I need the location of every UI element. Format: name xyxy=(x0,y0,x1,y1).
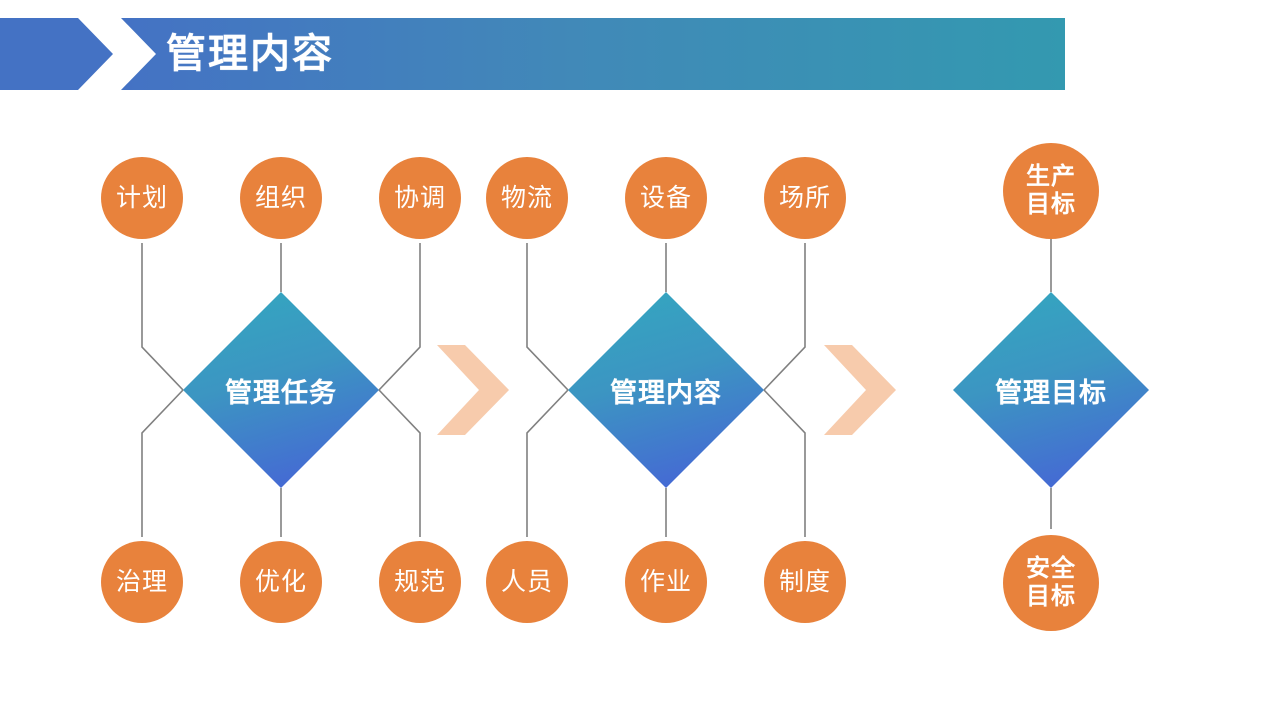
line-d1-to-bottom3 xyxy=(379,390,420,537)
line-top4-to-d2 xyxy=(527,243,568,390)
line-d2-to-bottom4 xyxy=(527,390,568,537)
chevron-right-icon xyxy=(824,345,896,435)
slide-canvas: 管理内容 xyxy=(0,0,1280,720)
node-safety-goal[interactable]: 安全目标 xyxy=(1003,535,1099,631)
node-plan[interactable]: 计划 xyxy=(101,157,183,239)
diamond-management-goals[interactable]: 管理目标 xyxy=(953,292,1149,488)
node-equipment[interactable]: 设备 xyxy=(625,157,707,239)
page-title: 管理内容 xyxy=(166,20,586,88)
node-label: 治理 xyxy=(116,569,168,595)
diamond-management-content[interactable]: 管理内容 xyxy=(568,292,764,488)
line-d1-to-bottom1 xyxy=(142,390,183,537)
chevron-right-icon xyxy=(437,345,509,435)
node-label: 制度 xyxy=(779,569,831,595)
diamond-label: 管理目标 xyxy=(953,292,1149,488)
diamond-label: 管理任务 xyxy=(183,292,379,488)
line-d2-to-bottom6 xyxy=(764,390,805,537)
node-label: 计划 xyxy=(116,185,168,211)
node-label: 安全目标 xyxy=(1026,555,1076,610)
line-top1-to-d1 xyxy=(142,243,183,390)
node-label: 优化 xyxy=(255,569,307,595)
diamond-label: 管理内容 xyxy=(568,292,764,488)
line-top3-to-d1 xyxy=(379,243,420,390)
node-label: 规范 xyxy=(394,569,446,595)
header-left-chevron-icon xyxy=(0,18,113,90)
node-coordinate[interactable]: 协调 xyxy=(379,157,461,239)
node-standardize[interactable]: 规范 xyxy=(379,541,461,623)
node-governance[interactable]: 治理 xyxy=(101,541,183,623)
node-label: 场所 xyxy=(779,185,831,211)
diamond-management-tasks[interactable]: 管理任务 xyxy=(183,292,379,488)
node-personnel[interactable]: 人员 xyxy=(486,541,568,623)
node-label: 生产目标 xyxy=(1026,163,1076,218)
node-site[interactable]: 场所 xyxy=(764,157,846,239)
node-system[interactable]: 制度 xyxy=(764,541,846,623)
node-organize[interactable]: 组织 xyxy=(240,157,322,239)
line-top6-to-d2 xyxy=(764,243,805,390)
node-label: 作业 xyxy=(640,569,692,595)
flow-arrow-1 xyxy=(437,345,509,435)
node-operation[interactable]: 作业 xyxy=(625,541,707,623)
flow-arrow-2 xyxy=(824,345,896,435)
node-optimize[interactable]: 优化 xyxy=(240,541,322,623)
node-label: 物流 xyxy=(501,185,553,211)
node-production-goal[interactable]: 生产目标 xyxy=(1003,143,1099,239)
node-label: 设备 xyxy=(640,185,692,211)
node-label: 协调 xyxy=(394,185,446,211)
node-label: 组织 xyxy=(255,185,307,211)
node-logistics[interactable]: 物流 xyxy=(486,157,568,239)
node-label: 人员 xyxy=(501,569,553,595)
